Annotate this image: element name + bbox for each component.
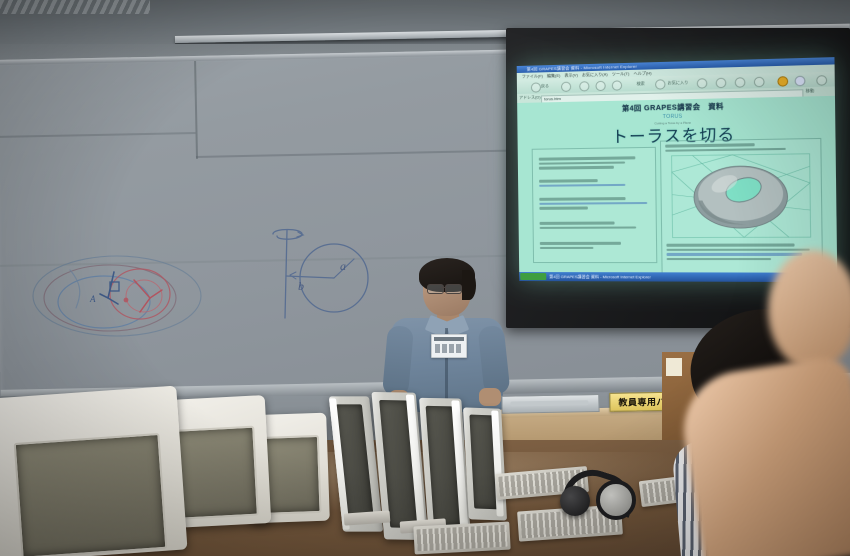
history-button[interactable] [716, 78, 727, 89]
paragraph [539, 156, 647, 171]
torus-figure [669, 152, 812, 240]
badge-title-bar [434, 337, 464, 341]
refresh-button[interactable] [595, 81, 605, 91]
crt-monitor-front-left[interactable] [0, 386, 187, 556]
stop-button[interactable] [579, 81, 589, 91]
media-button[interactable] [777, 76, 788, 87]
back-button[interactable] [531, 82, 541, 92]
lcd-monitor-4[interactable] [463, 407, 507, 520]
address-value: torus.htm [544, 95, 561, 101]
presenter-glasses-right-lens [445, 284, 462, 294]
favorites-button[interactable] [697, 78, 708, 89]
keyboard-4[interactable] [413, 522, 510, 555]
presenter-hand-right [479, 388, 501, 406]
favorites-label: お気に入り [668, 80, 689, 87]
paragraph [539, 179, 647, 189]
headphones-earcup-right[interactable] [596, 480, 636, 520]
browser-page-content: 第4回 GRAPES講習会 資料 TORUS Cutting a Torus b… [517, 96, 837, 273]
taskbar-window-label[interactable]: 第4回 GRAPES講習会 資料 - Microsoft Internet Ex… [549, 272, 651, 281]
photo-scene: A a b 第4回 GRAPES講習会 資料 - Microsoft Inter… [0, 0, 850, 556]
projected-browser-window[interactable]: 第4回 GRAPES講習会 資料 - Microsoft Internet Ex… [517, 57, 838, 282]
plate-slot [510, 400, 588, 406]
print-button[interactable] [754, 77, 765, 88]
ceiling-vent [0, 0, 150, 14]
start-button[interactable] [520, 273, 546, 280]
counter-metal-plate [501, 394, 599, 414]
sketch-label-radius-a: a [340, 259, 346, 273]
paragraph [539, 197, 647, 211]
badge-text-lines [435, 344, 463, 353]
sketch-label-distance-b: b [298, 279, 304, 293]
presenter-hair-side [462, 270, 476, 300]
go-label[interactable]: 移動 [806, 88, 815, 94]
whiteboard-seam [194, 61, 198, 159]
presenter-name-badge [431, 334, 467, 358]
whiteboard-torus-sketch: A [22, 246, 212, 346]
whiteboard-seam [0, 132, 196, 138]
presenter [383, 262, 511, 412]
search-button[interactable] [655, 79, 666, 89]
address-label: アドレス(D) [519, 94, 541, 101]
headphones-earcup-left[interactable] [560, 486, 590, 516]
forward-button[interactable] [561, 82, 571, 92]
back-label: 戻る [541, 83, 549, 89]
discuss-button[interactable] [795, 76, 806, 87]
slide-left-panel [532, 147, 658, 263]
paragraph [540, 221, 648, 231]
sketch-label-a: A [89, 294, 96, 304]
presenter-glasses-left-lens [427, 284, 444, 294]
mail-button[interactable] [735, 77, 746, 88]
edit-button[interactable] [816, 75, 827, 86]
foreground-person-head-blur [768, 250, 850, 370]
home-button[interactable] [612, 80, 622, 90]
presenter-glasses-bridge [441, 287, 446, 288]
paragraph [540, 242, 648, 251]
whiteboard-axis-diagram: a b [232, 228, 382, 320]
search-label: 検索 [636, 81, 644, 87]
